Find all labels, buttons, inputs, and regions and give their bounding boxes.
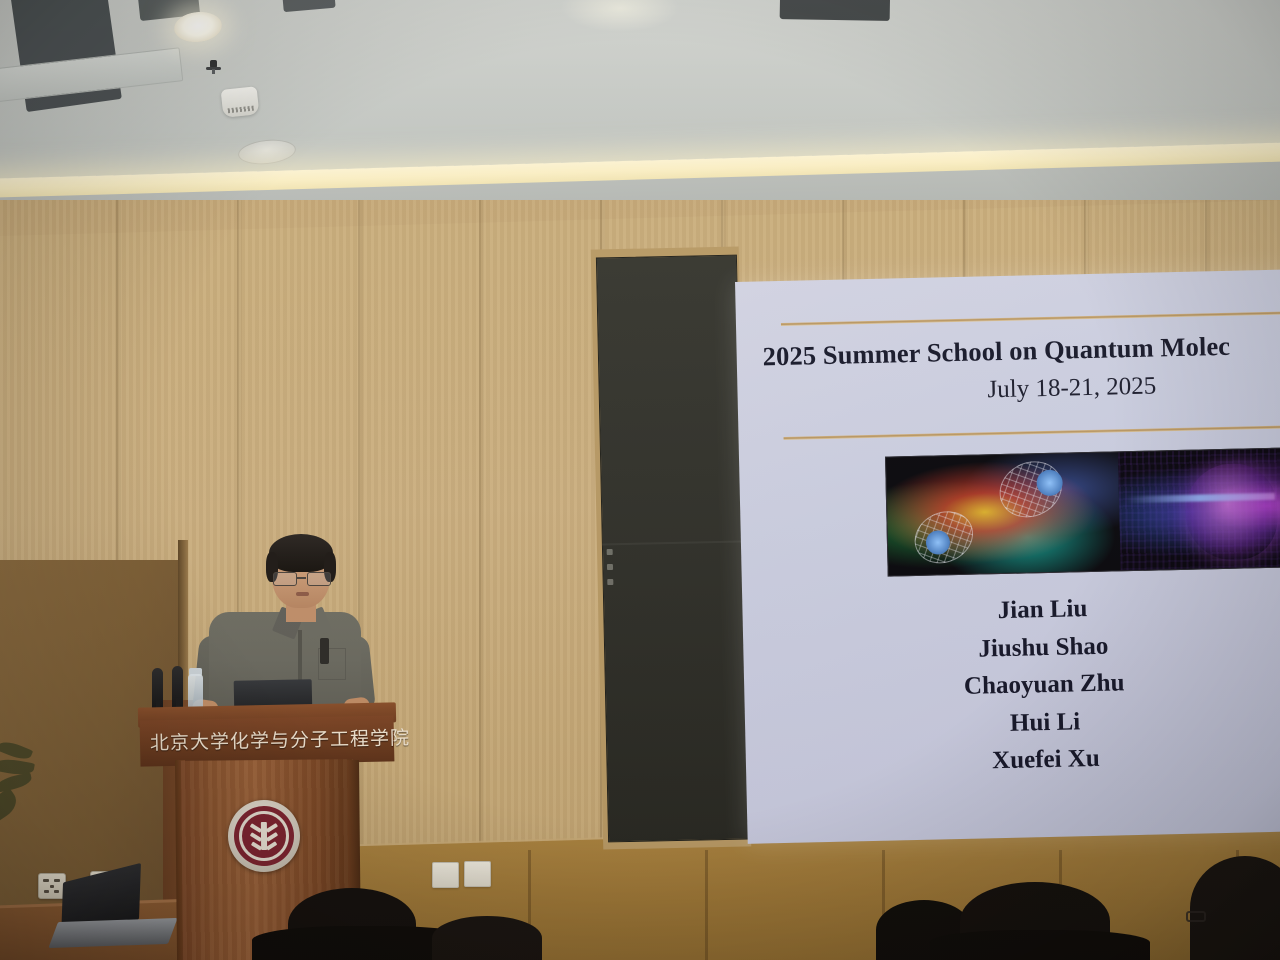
smoke-detector-icon [221, 86, 260, 118]
podium-institution-text: 北京大学化学与分子工程学院 [150, 723, 391, 755]
display-panel[interactable] [596, 255, 749, 843]
ceiling-dark-fixture [780, 0, 891, 21]
slide-rule-bottom [784, 424, 1280, 440]
plant-leaves [0, 742, 64, 842]
ceiling-dark-fixture [280, 0, 335, 12]
speaker-pocket-item [320, 638, 329, 664]
ceiling-speaker-icon [237, 137, 297, 167]
slide-image-left-quantum [886, 452, 1121, 575]
laptop-keyboard[interactable] [48, 918, 177, 948]
audience-head [432, 916, 542, 960]
presenter-list: Jian Liu Jiushu Shao Chaoyuan Zhu Hui Li… [742, 584, 1280, 785]
audience-glasses-icon [1186, 911, 1206, 922]
ceiling-glow [560, 0, 680, 32]
light-switch[interactable] [432, 862, 459, 888]
glasses-icon [273, 572, 329, 584]
seal-glyph [250, 822, 278, 850]
projected-slide: 2025 Summer School on Quantum Molec July… [735, 268, 1280, 843]
slide-date: July 18-21, 2025 [987, 367, 1280, 404]
speaker-mouth [296, 592, 309, 596]
sprinkler-icon [206, 60, 221, 74]
audience-shoulder [930, 930, 1150, 960]
slide-image-right-ai [1118, 447, 1280, 570]
light-switch[interactable] [464, 861, 491, 887]
slide-image [885, 446, 1280, 577]
peking-university-seal-icon [228, 800, 301, 873]
slide-rule-top [781, 310, 1280, 326]
display-panel-indicator-icon [605, 540, 615, 594]
lecture-hall-scene: 2025 Summer School on Quantum Molec July… [0, 0, 1280, 960]
slide-title: 2025 Summer School on Quantum Molec [762, 328, 1280, 373]
